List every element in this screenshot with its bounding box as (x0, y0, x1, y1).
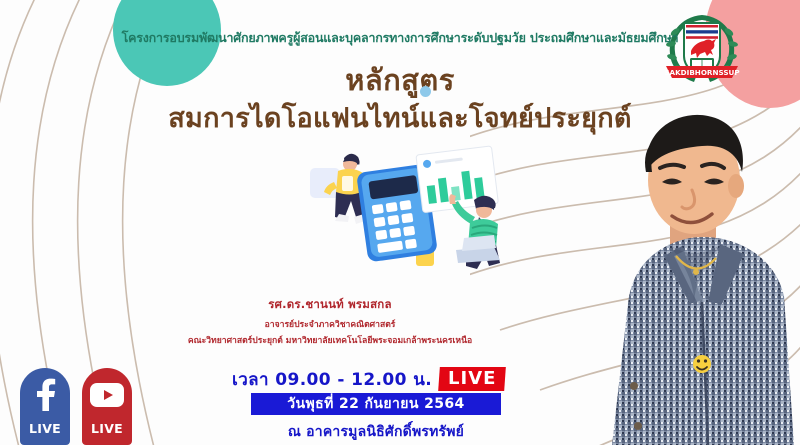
facebook-live-label: LIVE (29, 421, 61, 436)
social-live-badges: LIVE LIVE (20, 368, 132, 445)
webinar-poster: SAKDIBHORNSSUP โครงการอบรมพัฒนาศักยภาพคร… (0, 0, 800, 445)
youtube-live-badge[interactable]: LIVE (82, 368, 132, 445)
facebook-live-badge[interactable]: LIVE (20, 368, 70, 445)
speaker-info: รศ.ดร.ชานนท์ พรมสกล อาจารย์ประจำภาควิชาค… (120, 296, 540, 347)
live-badge-label: LIVE (448, 368, 496, 389)
session-time: เวลา 09.00 - 12.00 น. (232, 366, 432, 393)
speaker-organization: คณะวิทยาศาสตร์ประยุกต์ มหาวิทยาลัยเทคโนโ… (120, 333, 540, 347)
live-badge: LIVE (438, 367, 506, 391)
calculator-analytics-illustration (288, 138, 524, 274)
facebook-icon (32, 377, 58, 415)
youtube-icon (89, 377, 125, 413)
speaker-photo (598, 104, 800, 445)
session-venue: ณ อาคารมูลนิธิศักดิ์พรทรัพย์ (241, 421, 511, 443)
youtube-live-label: LIVE (91, 421, 123, 436)
speaker-role: อาจารย์ประจำภาควิชาคณิตศาสตร์ (120, 317, 540, 331)
speaker-name: รศ.ดร.ชานนท์ พรมสกล (120, 296, 540, 314)
program-header-line: โครงการอบรมพัฒนาศักยภาพครูผู้สอนและบุคลา… (0, 28, 800, 48)
session-date-bar: วันพุธที่ 22 กันยายน 2564 (251, 393, 501, 415)
schedule-time-row: เวลา 09.00 - 12.00 น. LIVE (232, 366, 505, 393)
